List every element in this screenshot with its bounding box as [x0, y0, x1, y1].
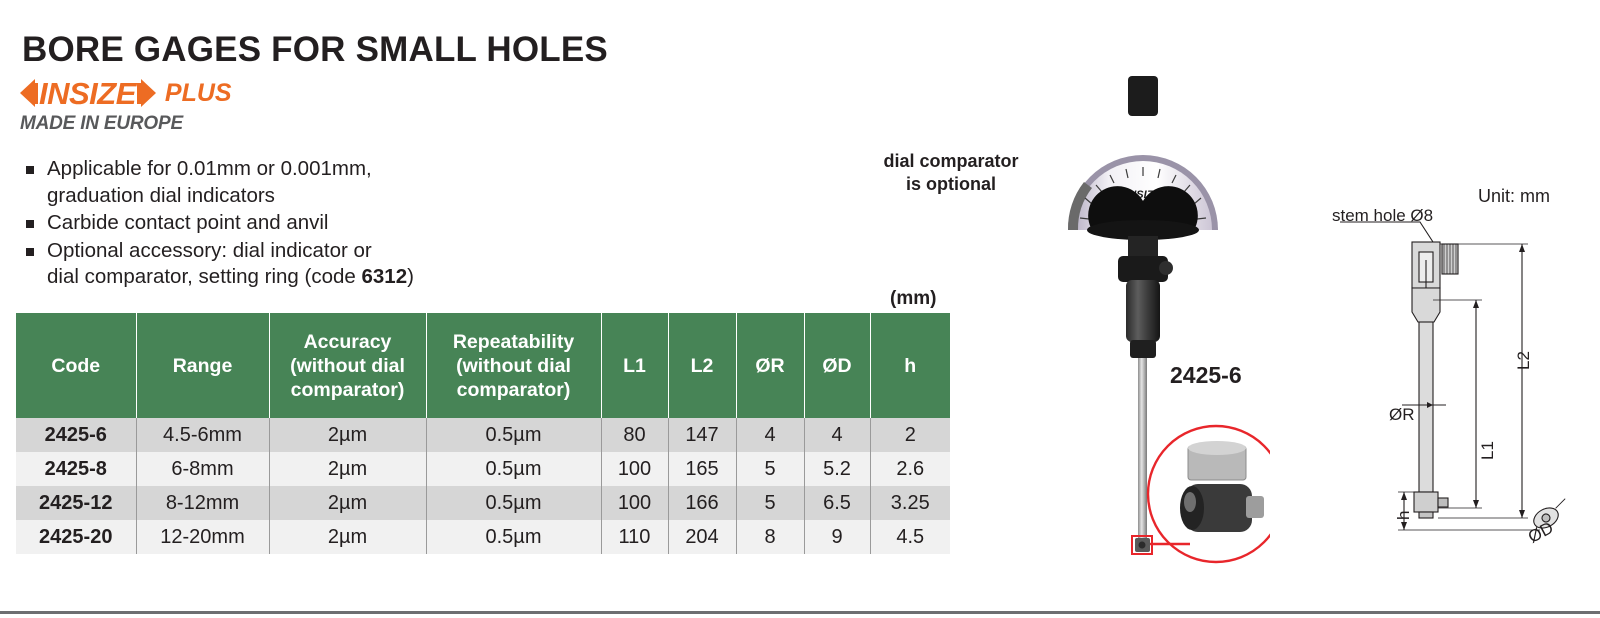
- dim-arrow-L1-bottom: [1473, 500, 1479, 508]
- dimension-label-l1: L1: [1478, 441, 1498, 460]
- cell-range: 12-20mm: [136, 520, 269, 554]
- footer-divider: [0, 611, 1600, 614]
- handle-base: [1130, 340, 1156, 358]
- dial-neck: [1128, 236, 1158, 258]
- cell-h: 2: [870, 418, 950, 452]
- column-header-code: Code: [16, 313, 136, 418]
- tip-anvil: [1438, 498, 1448, 507]
- body-taper: [1412, 288, 1440, 322]
- feature-list: Applicable for 0.01mm or 0.001mm, gradua…: [22, 156, 492, 292]
- insize-plus-logo: INSIZE PLUS: [20, 76, 232, 110]
- repeatability-line3: comparator): [457, 379, 571, 401]
- cell-repeatability: 0.5µm: [426, 486, 601, 520]
- column-header-range: Range: [136, 313, 269, 418]
- cell-od: 5.2: [804, 452, 870, 486]
- feature-text: graduation dial indicators: [47, 184, 275, 207]
- insize-wordmark: INSIZE: [38, 78, 137, 109]
- bore-gage-photo: INSIZE PLUS: [1040, 70, 1270, 570]
- column-header-h: h: [870, 313, 950, 418]
- cell-l2: 166: [668, 486, 736, 520]
- specifications-table: Code Range Accuracy (without dial compar…: [16, 313, 950, 554]
- cell-l1: 100: [601, 486, 668, 520]
- measuring-tip: [1414, 492, 1438, 512]
- cell-code: 2425-12: [16, 486, 136, 520]
- technical-drawing: [1300, 200, 1600, 580]
- cell-repeatability: 0.5µm: [426, 520, 601, 554]
- cell-or: 5: [736, 486, 804, 520]
- cell-h: 4.5: [870, 520, 950, 554]
- detail-head-slot: [1184, 492, 1196, 512]
- feature-text: ): [407, 265, 414, 288]
- cell-code: 2425-8: [16, 452, 136, 486]
- accuracy-line2: (without dial: [290, 355, 405, 377]
- accuracy-line3: comparator): [291, 379, 405, 401]
- cell-range: 6-8mm: [136, 452, 269, 486]
- cell-or: 8: [736, 520, 804, 554]
- cell-accuracy: 2µm: [269, 452, 426, 486]
- accuracy-line1: Accuracy: [304, 331, 392, 353]
- cell-od: 4: [804, 418, 870, 452]
- dial-note-line2: is optional: [866, 173, 1036, 196]
- stem-hole-leader: [1340, 222, 1433, 242]
- column-header-od: ØD: [804, 313, 870, 418]
- cell-accuracy: 2µm: [269, 486, 426, 520]
- cell-od: 6.5: [804, 486, 870, 520]
- cell-repeatability: 0.5µm: [426, 418, 601, 452]
- cell-repeatability: 0.5µm: [426, 452, 601, 486]
- table-row: 2425-12 8-12mm 2µm 0.5µm 100 166 5 6.5 3…: [16, 486, 950, 520]
- cell-l1: 110: [601, 520, 668, 554]
- table-unit-label: (mm): [890, 288, 936, 310]
- detail-anvil-top: [1188, 441, 1246, 455]
- cell-od: 9: [804, 520, 870, 554]
- cell-or: 4: [736, 418, 804, 452]
- table-row: 2425-20 12-20mm 2µm 0.5µm 110 204 8 9 4.…: [16, 520, 950, 554]
- measuring-stem: [1138, 358, 1147, 548]
- brand-logo: INSIZE PLUS MADE IN EUROPE: [20, 76, 232, 135]
- main-shaft: [1419, 322, 1433, 492]
- callout-detail: [1180, 441, 1264, 532]
- page-title: BORE GAGES FOR SMALL HOLES: [22, 30, 608, 70]
- dial-comparator-note: dial comparator is optional: [866, 150, 1036, 196]
- dim-arrow-h-bottom: [1401, 522, 1407, 530]
- feature-text: Optional accessory: dial indicator or: [47, 239, 372, 262]
- list-item: Optional accessory: dial indicator or di…: [22, 238, 492, 291]
- table-row: 2425-8 6-8mm 2µm 0.5µm 100 165 5 5.2 2.6: [16, 452, 950, 486]
- table-row: 2425-6 4.5-6mm 2µm 0.5µm 80 147 4 4 2: [16, 418, 950, 452]
- cell-l2: 165: [668, 452, 736, 486]
- table-header-row: Code Range Accuracy (without dial compar…: [16, 313, 950, 418]
- repeatability-line2: (without dial: [456, 355, 571, 377]
- clamp-screw: [1159, 261, 1173, 275]
- setting-ring-code: 6312: [362, 265, 408, 288]
- cell-l2: 147: [668, 418, 736, 452]
- repeatability-line1: Repeatability: [453, 331, 574, 353]
- detail-shaft: [1246, 496, 1264, 518]
- cell-l2: 204: [668, 520, 736, 554]
- dim-arrow-h-top: [1401, 492, 1407, 500]
- cell-accuracy: 2µm: [269, 520, 426, 554]
- cell-h: 3.25: [870, 486, 950, 520]
- dimension-label-or: ØR: [1389, 405, 1415, 425]
- column-header-or: ØR: [736, 313, 804, 418]
- arrow-right-icon: [141, 79, 156, 107]
- cell-code: 2425-20: [16, 520, 136, 554]
- plus-wordmark: PLUS: [165, 81, 232, 106]
- cell-h: 2.6: [870, 452, 950, 486]
- cell-l1: 80: [601, 418, 668, 452]
- dim-arrow-L1-top: [1473, 300, 1479, 308]
- dimension-label-l2: L2: [1514, 351, 1534, 370]
- handle-grip: [1126, 280, 1160, 342]
- tip-base: [1419, 512, 1433, 518]
- od-leader: [1554, 499, 1567, 509]
- made-in-europe-tagline: MADE IN EUROPE: [20, 113, 232, 135]
- bullet-square-icon: [26, 248, 34, 256]
- cell-accuracy: 2µm: [269, 418, 426, 452]
- dim-arrow-L2-bottom: [1519, 510, 1525, 518]
- bullet-square-icon: [26, 220, 34, 228]
- dimension-label-h: h: [1394, 511, 1414, 520]
- cell-l1: 100: [601, 452, 668, 486]
- column-header-accuracy: Accuracy (without dial comparator): [269, 313, 426, 418]
- column-header-repeatability: Repeatability (without dial comparator): [426, 313, 601, 418]
- list-item: Carbide contact point and anvil: [22, 210, 492, 237]
- cell-range: 8-12mm: [136, 486, 269, 520]
- cell-or: 5: [736, 452, 804, 486]
- list-item: Applicable for 0.01mm or 0.001mm, gradua…: [22, 156, 492, 209]
- feature-text: Carbide contact point and anvil: [47, 211, 329, 234]
- cell-code: 2425-6: [16, 418, 136, 452]
- cell-range: 4.5-6mm: [136, 418, 269, 452]
- contact-point: [1139, 542, 1146, 549]
- column-header-l2: L2: [668, 313, 736, 418]
- feature-text: Applicable for 0.01mm or 0.001mm,: [47, 157, 372, 180]
- bullet-square-icon: [26, 166, 34, 174]
- dial-note-line1: dial comparator: [866, 150, 1036, 173]
- column-header-l1: L1: [601, 313, 668, 418]
- feature-text: dial comparator, setting ring (code: [47, 265, 362, 288]
- dim-arrow-L2-top: [1519, 244, 1525, 252]
- dial-top-cap: [1128, 76, 1158, 116]
